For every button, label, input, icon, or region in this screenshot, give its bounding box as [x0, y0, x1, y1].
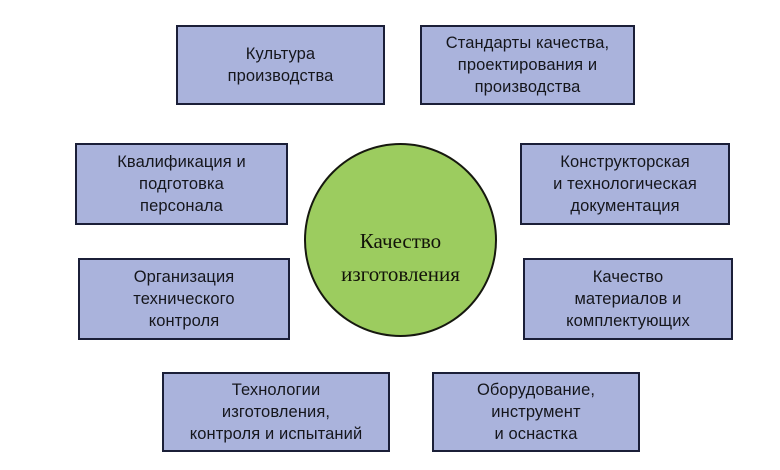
factor-label-equipment: Оборудование, инструмент и оснастка — [477, 379, 595, 445]
diagram-canvas: Культура производства Стандарты качества… — [0, 0, 780, 470]
factor-box-equipment[interactable]: Оборудование, инструмент и оснастка — [432, 372, 640, 452]
factor-box-culture[interactable]: Культура производства — [176, 25, 385, 105]
factor-label-culture: Культура производства — [228, 43, 334, 87]
factor-box-quality-control-organization[interactable]: Организация технического контроля — [78, 258, 290, 340]
factor-box-technologies[interactable]: Технологии изготовления, контроля и испы… — [162, 372, 390, 452]
factor-label-personnel: Квалификация и подготовка персонала — [117, 151, 246, 217]
factor-box-personnel[interactable]: Квалификация и подготовка персонала — [75, 143, 288, 225]
factor-label-materials: Качество материалов и комплектующих — [566, 266, 690, 332]
factor-label-technologies: Технологии изготовления, контроля и испы… — [190, 379, 363, 445]
factor-box-standards[interactable]: Стандарты качества, проектирования и про… — [420, 25, 635, 105]
factor-label-standards: Стандарты качества, проектирования и про… — [446, 32, 609, 98]
center-circle-label: Качество изготовления — [341, 225, 460, 290]
factor-box-documentation[interactable]: Конструкторская и технологическая докуме… — [520, 143, 730, 225]
factor-label-documentation: Конструкторская и технологическая докуме… — [553, 151, 697, 217]
center-circle-node[interactable]: Качество изготовления — [304, 143, 497, 337]
factor-box-materials[interactable]: Качество материалов и комплектующих — [523, 258, 733, 340]
factor-label-quality-control-organization: Организация технического контроля — [133, 266, 234, 332]
